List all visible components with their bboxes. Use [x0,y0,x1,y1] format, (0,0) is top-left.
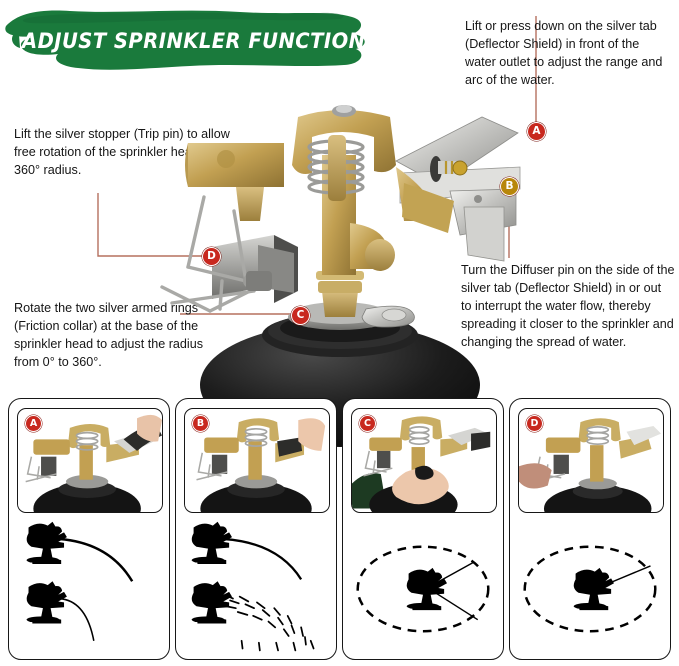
panel-marker-d: D [526,415,543,432]
panel-marker-c: C [359,415,376,432]
callout-text-a: Lift or press down on the silver tab (De… [465,18,671,90]
panel-c: C [342,398,504,660]
short-arc [59,599,94,641]
panel-a-photo: A [17,408,163,513]
hero-marker-c: C [291,306,310,325]
spray-droplets [225,595,313,651]
sector-edge-lower [435,593,477,620]
instruction-panels: A [8,398,671,660]
panel-d: D [509,398,671,660]
panel-c-photo: C [351,408,497,513]
sprinkler-silhouette [27,522,67,564]
impact-arm [188,143,284,187]
stream-arc [224,539,301,579]
sprinkler-hero-image [150,95,570,395]
panel-a: A [8,398,170,660]
long-arc [59,539,132,581]
hero-marker-b: B [500,177,519,196]
hero-marker-a: A [527,122,546,141]
radius-line [604,566,650,585]
panel-d-diagram [518,519,662,657]
panel-c-diagram [351,519,495,657]
panel-marker-a: A [25,415,42,432]
panel-b-diagram [184,519,328,657]
panel-a-diagram [17,519,161,657]
panel-b: B [175,398,337,660]
panel-b-photo: B [184,408,330,513]
sector-edge-upper [439,562,474,581]
panel-d-photo: D [518,408,664,513]
hero-marker-d: D [202,247,221,266]
panel-marker-b: B [192,415,209,432]
